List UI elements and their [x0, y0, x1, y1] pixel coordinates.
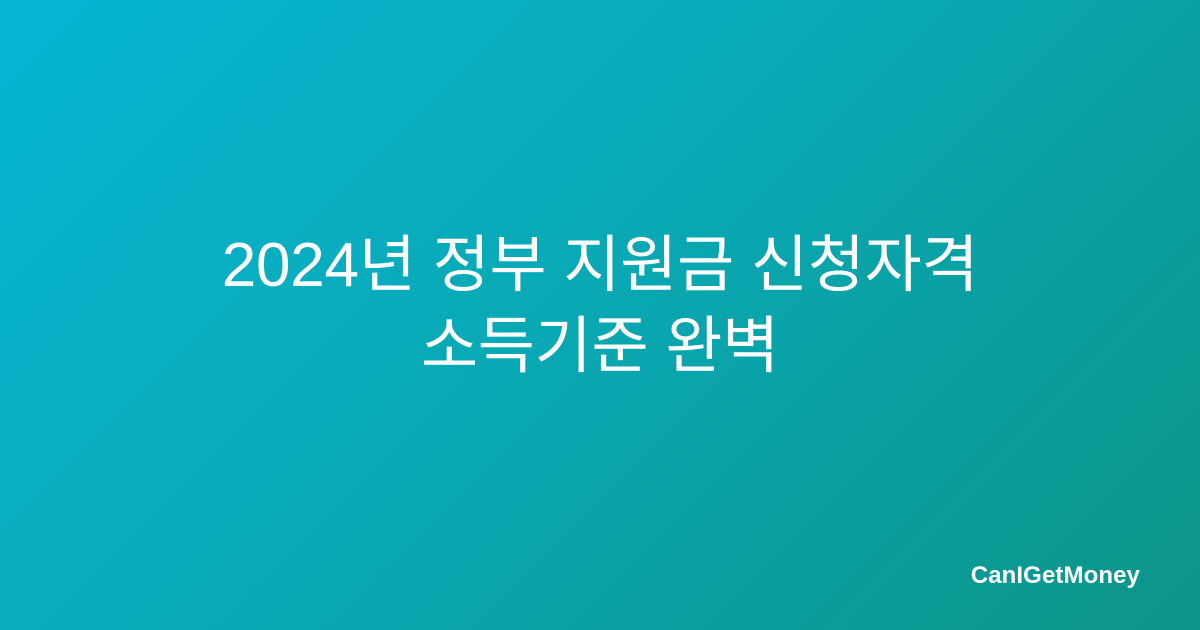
og-share-card: 2024년 정부 지원금 신청자격 소득기준 완벽 CanIGetMoney [0, 0, 1200, 630]
page-title: 2024년 정부 지원금 신청자격 소득기준 완벽 [100, 226, 1100, 387]
brand-name: CanIGetMoney [971, 564, 1140, 588]
headline-container: 2024년 정부 지원금 신청자격 소득기준 완벽 [100, 226, 1100, 387]
